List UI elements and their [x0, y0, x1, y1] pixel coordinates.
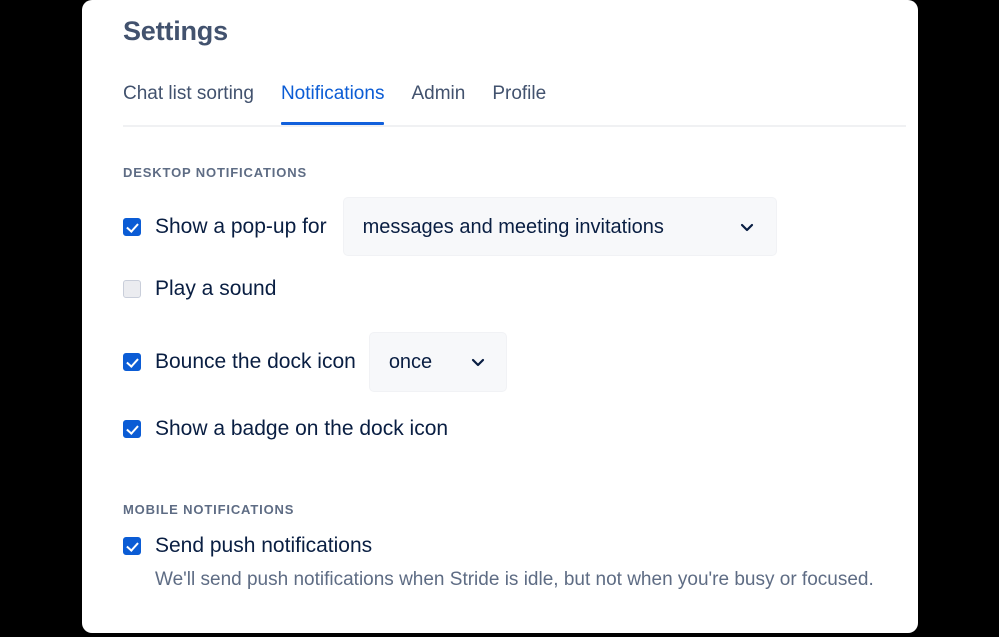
option-row-show-popup: Show a pop-up for messages and meeting i… [123, 197, 777, 256]
chevron-down-icon [737, 217, 757, 237]
select-bounce-count[interactable]: once [369, 332, 507, 392]
checkbox-send-push[interactable] [123, 537, 141, 555]
label-send-push: Send push notifications [155, 532, 372, 560]
select-bounce-count-value: once [389, 349, 432, 375]
tab-chat-list-sorting[interactable]: Chat list sorting [123, 82, 254, 123]
settings-card: Settings Chat list sorting Notifications… [82, 0, 918, 633]
option-row-show-badge: Show a badge on the dock icon [123, 415, 448, 443]
checkbox-play-sound[interactable] [123, 280, 141, 298]
page-title: Settings [123, 14, 228, 48]
label-bounce-dock-icon: Bounce the dock icon [155, 348, 356, 376]
label-show-badge: Show a badge on the dock icon [155, 415, 448, 443]
section-header-desktop-notifications: DESKTOP NOTIFICATIONS [123, 165, 307, 180]
tab-profile[interactable]: Profile [492, 82, 546, 123]
option-row-bounce-dock-icon: Bounce the dock icon once [123, 332, 507, 392]
description-send-push: We'll send push notifications when Strid… [155, 565, 915, 595]
checkbox-show-badge[interactable] [123, 420, 141, 438]
settings-card-inner: Settings Chat list sorting Notifications… [82, 0, 918, 633]
tab-admin[interactable]: Admin [411, 82, 465, 123]
option-row-play-sound: Play a sound [123, 275, 276, 303]
tab-notifications[interactable]: Notifications [281, 82, 385, 123]
option-row-send-push: Send push notifications [123, 532, 372, 560]
settings-tab-bar: Chat list sorting Notifications Admin Pr… [123, 82, 906, 127]
section-header-mobile-notifications: MOBILE NOTIFICATIONS [123, 502, 294, 517]
label-play-sound: Play a sound [155, 275, 276, 303]
select-popup-target-value: messages and meeting invitations [363, 214, 664, 240]
chevron-down-icon [468, 352, 488, 372]
label-show-popup: Show a pop-up for [155, 213, 327, 241]
checkbox-show-popup[interactable] [123, 218, 141, 236]
select-popup-target[interactable]: messages and meeting invitations [343, 197, 777, 256]
checkbox-bounce-dock-icon[interactable] [123, 353, 141, 371]
